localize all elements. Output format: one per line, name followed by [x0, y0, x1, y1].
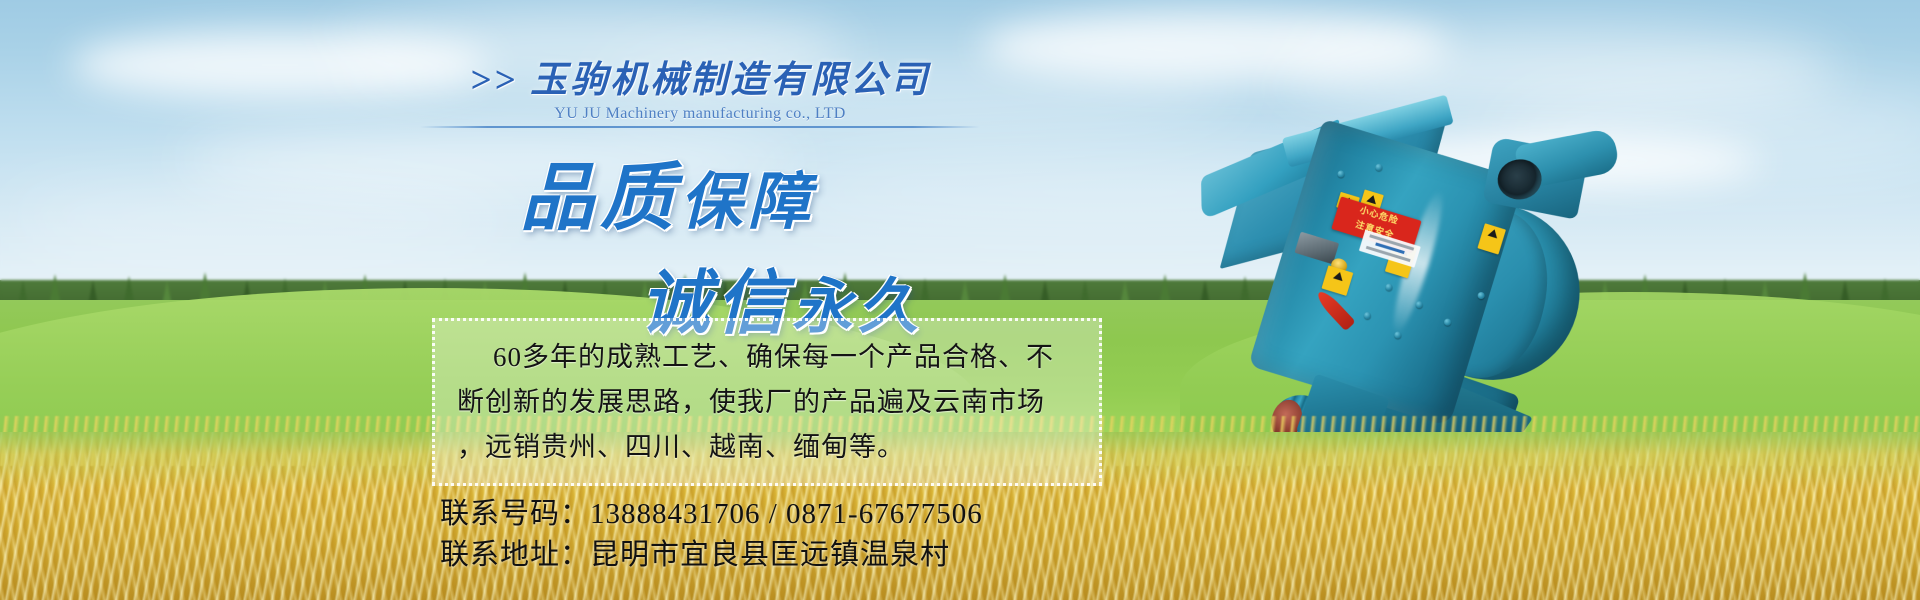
- promotional-banner: 小心危险 注意安全 >> 玉驹机械制造有限公司 YU JU Machinery …: [0, 0, 1920, 600]
- company-name-chinese: >> 玉驹机械制造有限公司: [420, 62, 980, 101]
- description-line-1-text: 60多年的成熟工艺、确保每一个产品合格、不: [493, 342, 1054, 372]
- contact-address: 联系地址：昆明市宜良县匡远镇温泉村: [440, 535, 1240, 576]
- description-line-3: ，远销贵州、四川、越南、缅甸等。: [457, 425, 1077, 470]
- contact-phone[interactable]: 联系号码：13888431706 / 0871-67677506: [440, 494, 1240, 535]
- company-description-box: 60多年的成熟工艺、确保每一个产品合格、不 断创新的发展思路，使我厂的产品遍及云…: [432, 318, 1102, 486]
- description-line-1: 60多年的成熟工艺、确保每一个产品合格、不: [457, 335, 1077, 380]
- header-divider: [420, 126, 980, 128]
- contact-block: 联系号码：13888431706 / 0871-67677506 联系地址：昆明…: [440, 494, 1240, 576]
- company-name-english: YU JU Machinery manufacturing co., LTD: [420, 105, 980, 123]
- description-line-2: 断创新的发展思路，使我厂的产品遍及云南市场: [457, 380, 1077, 425]
- company-header: >> 玉驹机械制造有限公司 YU JU Machinery manufactur…: [420, 62, 980, 128]
